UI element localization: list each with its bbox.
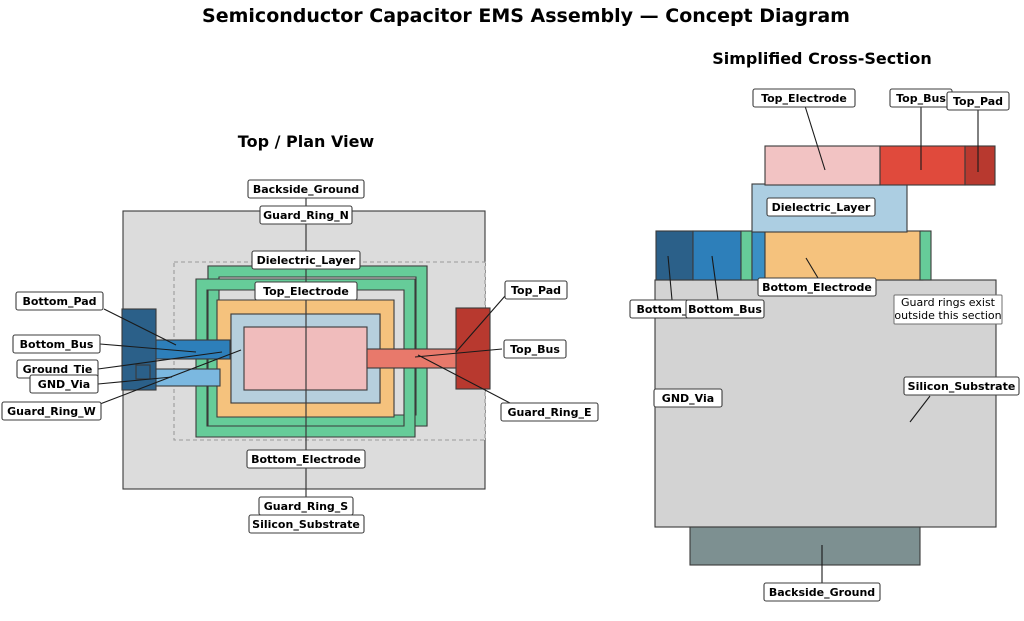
cross-gnd-via[interactable] <box>752 231 765 280</box>
callout-plan-guard-ring-e[interactable]: Guard_Ring_E <box>501 403 598 421</box>
cross-guard-ring-note-line1: Guard rings exist <box>901 296 996 309</box>
callout-plan-bottom-electrode-label: Bottom_Electrode <box>251 453 361 466</box>
callout-plan-guard-ring-n-label: Guard_Ring_N <box>263 209 349 222</box>
callout-cross-gnd-via[interactable]: GND_Via <box>654 389 722 407</box>
cross-bottom-bus[interactable] <box>693 231 741 280</box>
callout-plan-bottom-bus-label: Bottom_Bus <box>20 338 94 351</box>
callout-plan-silicon-substrate-label: Silicon_Substrate <box>252 518 360 531</box>
cross-guard-ring-right[interactable] <box>920 231 931 280</box>
cross-guard-ring-left[interactable] <box>741 231 752 280</box>
cross-bottom-pad[interactable] <box>656 231 693 280</box>
callout-plan-guard-ring-s-label: Guard_Ring_S <box>264 500 349 513</box>
callout-plan-silicon-substrate[interactable]: Silicon_Substrate <box>249 515 364 533</box>
callout-plan-top-bus[interactable]: Top_Bus <box>504 340 566 358</box>
callout-plan-guard-ring-e-label: Guard_Ring_E <box>507 406 591 419</box>
plan-top-bus[interactable] <box>367 349 467 368</box>
callout-plan-backside-ground[interactable]: Backside_Ground <box>248 180 364 198</box>
callout-plan-guard-ring-w[interactable]: Guard_Ring_W <box>2 402 101 420</box>
callout-plan-top-bus-label: Top_Bus <box>510 343 560 356</box>
callout-cross-backside-ground-label: Backside_Ground <box>769 586 875 599</box>
callout-cross-top-pad[interactable]: Top_Pad <box>947 92 1009 110</box>
callout-plan-guard-ring-s[interactable]: Guard_Ring_S <box>259 497 353 515</box>
figure-title: Semiconductor Capacitor EMS Assembly — C… <box>202 5 850 27</box>
callout-plan-guard-ring-w-label: Guard_Ring_W <box>7 405 96 418</box>
callout-cross-top-bus[interactable]: Top_Bus <box>890 89 952 107</box>
callout-plan-dielectric-layer[interactable]: Dielectric_Layer <box>252 251 360 269</box>
callout-plan-bottom-bus[interactable]: Bottom_Bus <box>13 335 100 353</box>
cross-top-electrode[interactable] <box>765 146 880 185</box>
callout-cross-bottom-electrode[interactable]: Bottom_Electrode <box>758 278 876 296</box>
cross-guard-ring-note: Guard rings exist outside this section <box>894 295 1002 324</box>
callout-plan-ground-tie-label: Ground_Tie <box>23 363 93 376</box>
callout-plan-backside-ground-label: Backside_Ground <box>253 183 359 196</box>
callout-plan-bottom-electrode[interactable]: Bottom_Electrode <box>247 450 365 468</box>
cross-top-bus[interactable] <box>880 146 965 185</box>
callout-cross-bottom-bus[interactable]: Bottom_Bus <box>686 300 764 318</box>
cross-backside-ground[interactable] <box>690 527 920 565</box>
callout-cross-top-pad-label: Top_Pad <box>953 95 1003 108</box>
plan-view-heading: Top / Plan View <box>238 132 375 151</box>
callout-plan-bottom-pad-label: Bottom_Pad <box>22 295 96 308</box>
callout-cross-gnd-via-label: GND_Via <box>662 392 714 405</box>
callout-plan-gnd-via[interactable]: GND_Via <box>30 375 98 393</box>
callout-plan-top-pad[interactable]: Top_Pad <box>505 281 567 299</box>
callout-cross-silicon-substrate-label: Silicon_Substrate <box>908 380 1016 393</box>
callout-cross-backside-ground[interactable]: Backside_Ground <box>764 583 880 601</box>
cross-section-heading: Simplified Cross-Section <box>712 49 932 68</box>
callout-plan-dielectric-layer-label: Dielectric_Layer <box>257 254 356 267</box>
callout-cross-dielectric-layer-label: Dielectric_Layer <box>772 201 871 214</box>
callout-cross-dielectric-layer[interactable]: Dielectric_Layer <box>767 198 875 216</box>
callout-plan-guard-ring-n[interactable]: Guard_Ring_N <box>260 206 352 224</box>
callout-plan-top-electrode-label: Top_Electrode <box>263 285 349 298</box>
callout-plan-top-electrode[interactable]: Top_Electrode <box>255 282 357 300</box>
plan-top-pad[interactable] <box>456 308 490 389</box>
callout-plan-top-pad-label: Top_Pad <box>511 284 561 297</box>
callout-cross-silicon-substrate[interactable]: Silicon_Substrate <box>904 377 1019 395</box>
diagram-canvas: Semiconductor Capacitor EMS Assembly — C… <box>0 0 1024 621</box>
plan-ground-tie[interactable] <box>136 365 150 379</box>
callout-plan-bottom-pad[interactable]: Bottom_Pad <box>16 292 103 310</box>
cross-top-pad[interactable] <box>965 146 995 185</box>
callout-cross-top-bus-label: Top_Bus <box>896 92 946 105</box>
callout-cross-top-electrode-label: Top_Electrode <box>761 92 847 105</box>
callout-cross-bottom-electrode-label: Bottom_Electrode <box>762 281 872 294</box>
diagram-stage: Semiconductor Capacitor EMS Assembly — C… <box>0 0 1024 621</box>
cross-bottom-electrode[interactable] <box>765 231 923 280</box>
callout-cross-top-electrode[interactable]: Top_Electrode <box>753 89 855 107</box>
cross-guard-ring-note-line2: outside this section <box>894 309 1001 322</box>
callout-cross-bottom-bus-label: Bottom_Bus <box>688 303 762 316</box>
callout-plan-gnd-via-label: GND_Via <box>38 378 90 391</box>
